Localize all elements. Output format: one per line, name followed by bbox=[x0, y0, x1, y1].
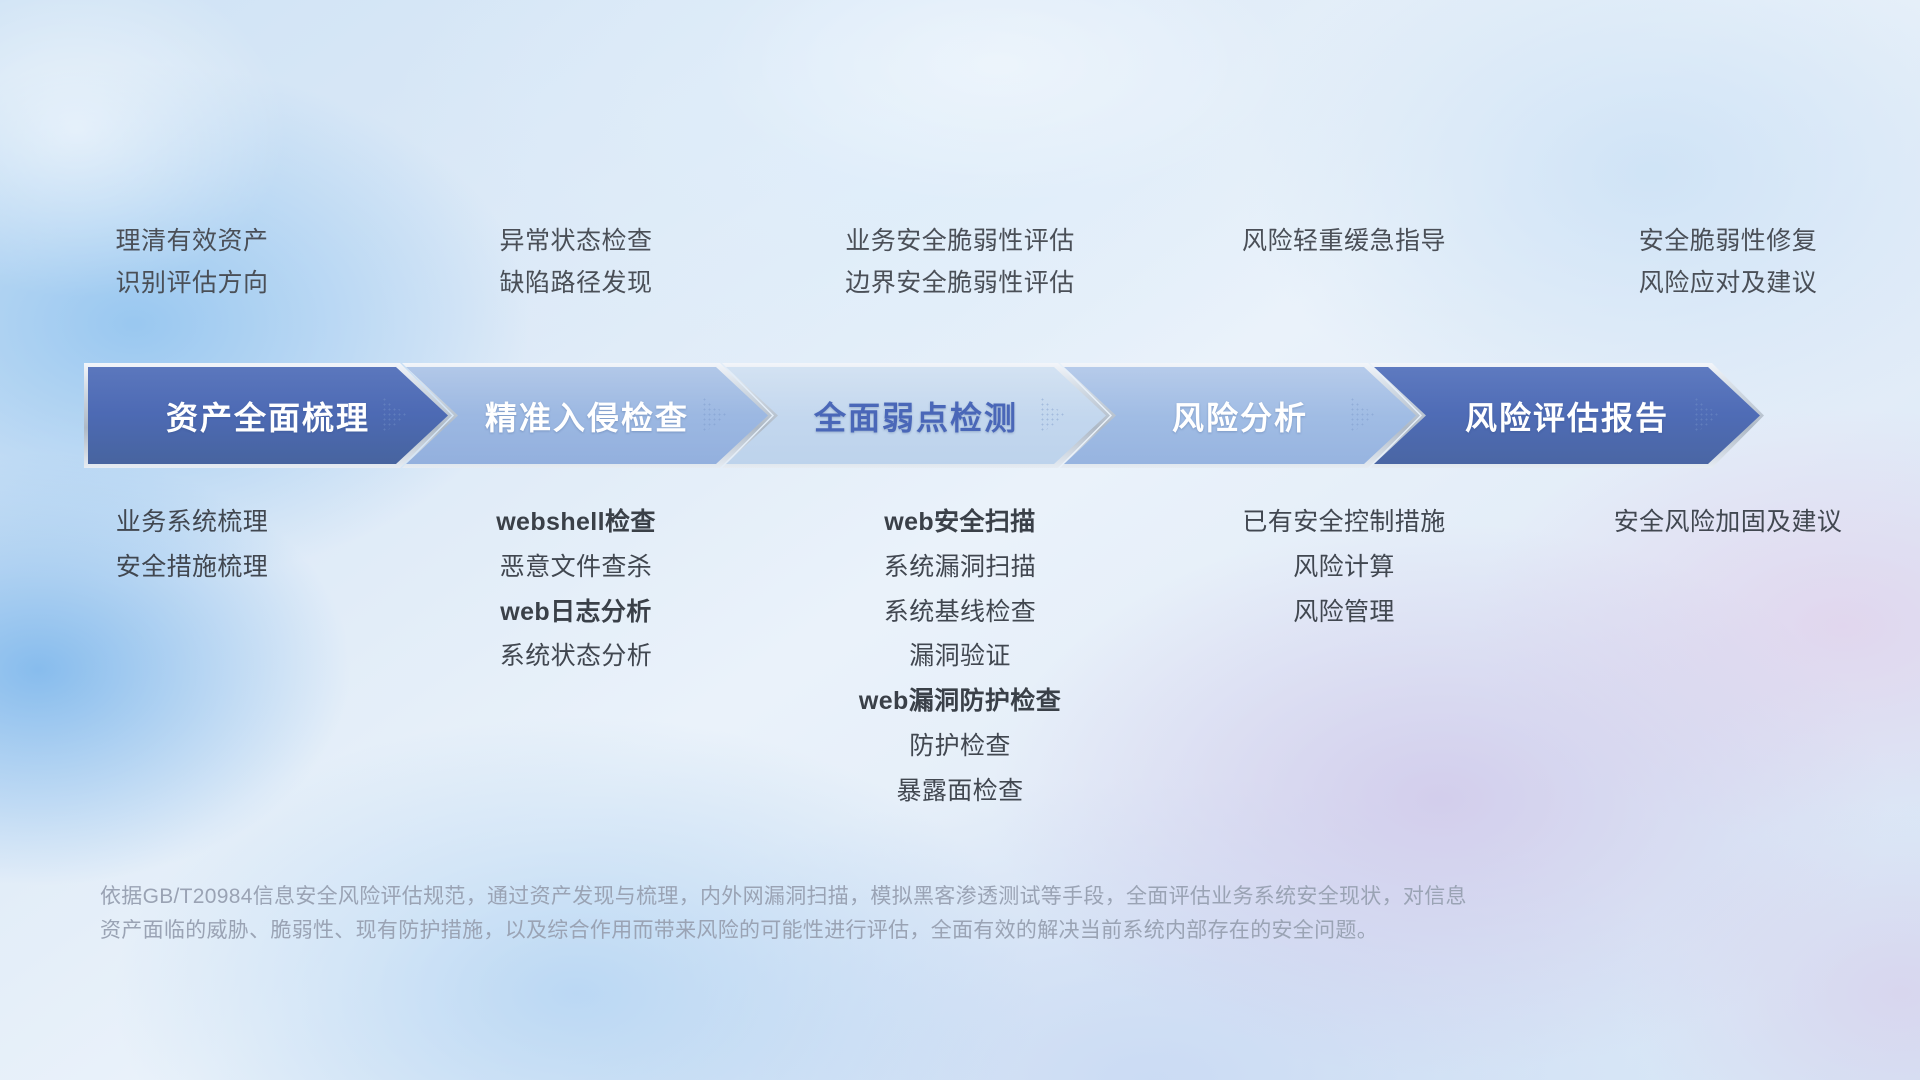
stage-items-3: web安全扫描 系统漏洞扫描 系统基线检查 漏洞验证 web漏洞防护检查 防护检… bbox=[768, 508, 1152, 805]
list-item: 风险管理 bbox=[1293, 598, 1395, 627]
chevron-label: 全面弱点检测 bbox=[814, 393, 1018, 439]
footer-description: 依据GB/T20984信息安全风险评估规范，通过资产发现与梳理，内外网漏洞扫描，… bbox=[100, 880, 1660, 948]
list-item: 系统状态分析 bbox=[500, 642, 652, 671]
list-item: web安全扫描 bbox=[884, 508, 1035, 537]
stage-items-2: webshell检查 恶意文件查杀 web日志分析 系统状态分析 bbox=[384, 508, 768, 671]
stage-items-5: 安全风险加固及建议 bbox=[1536, 508, 1920, 537]
list-item: 已有安全控制措施 bbox=[1242, 508, 1445, 537]
chevron-stage-5[interactable]: 风险评估报告 bbox=[1374, 367, 1760, 464]
stage-items-4: 已有安全控制措施 风险计算 风险管理 bbox=[1152, 508, 1536, 626]
stage-items-row: 业务系统梳理 安全措施梳理 webshell检查 恶意文件查杀 web日志分析 … bbox=[0, 508, 1920, 805]
chevron-stage-1[interactable]: 资产全面梳理 bbox=[88, 367, 448, 464]
list-item: 暴露面检查 bbox=[896, 777, 1023, 806]
list-item: 安全风险加固及建议 bbox=[1614, 508, 1843, 537]
list-item: 防护检查 bbox=[909, 732, 1011, 761]
chevron-label: 资产全面梳理 bbox=[166, 393, 370, 439]
top-caption-line: 识别评估方向 bbox=[115, 270, 268, 298]
top-caption-group-5: 安全脆弱性修复 风险应对及建议 bbox=[1536, 228, 1920, 338]
top-caption-group-4: 风险轻重缓急指导 bbox=[1152, 228, 1536, 338]
chevron-stage-2[interactable]: 精准入侵检查 bbox=[406, 367, 768, 464]
list-item: 系统基线检查 bbox=[884, 598, 1036, 627]
top-caption-line: 安全脆弱性修复 bbox=[1639, 228, 1818, 256]
top-caption-group-1: 理清有效资产 识别评估方向 bbox=[0, 228, 384, 338]
top-caption-line: 缺陷路径发现 bbox=[499, 270, 652, 298]
chevron-label: 风险分析 bbox=[1172, 393, 1308, 439]
top-caption-line: 理清有效资产 bbox=[115, 228, 268, 256]
list-item: 恶意文件查杀 bbox=[500, 553, 652, 582]
list-item: 安全措施梳理 bbox=[116, 553, 268, 582]
stage-items-1: 业务系统梳理 安全措施梳理 bbox=[0, 508, 384, 582]
list-item: web漏洞防护检查 bbox=[859, 687, 1061, 716]
top-caption-line: 边界安全脆弱性评估 bbox=[845, 270, 1075, 298]
top-caption-group-3: 业务安全脆弱性评估 边界安全脆弱性评估 bbox=[768, 228, 1152, 338]
footer-line-1: 依据GB/T20984信息安全风险评估规范，通过资产发现与梳理，内外网漏洞扫描，… bbox=[100, 880, 1660, 914]
process-chevron-banner: 资产全面梳理 精准入侵检查 全面弱点检测 风险分析 风险评估报告 bbox=[88, 367, 1843, 464]
footer-line-2: 资产面临的威胁、脆弱性、现有防护措施，以及综合作用而带来风险的可能性进行评估，全… bbox=[100, 914, 1660, 948]
chevron-label: 精准入侵检查 bbox=[485, 393, 689, 439]
list-item: web日志分析 bbox=[500, 598, 651, 627]
chevron-stage-4[interactable]: 风险分析 bbox=[1064, 367, 1416, 464]
chevron-label: 风险评估报告 bbox=[1465, 393, 1669, 439]
top-captions-row: 理清有效资产 识别评估方向 异常状态检查 缺陷路径发现 业务安全脆弱性评估 边界… bbox=[0, 228, 1920, 338]
list-item: 风险计算 bbox=[1293, 553, 1395, 582]
top-caption-group-2: 异常状态检查 缺陷路径发现 bbox=[384, 228, 768, 338]
top-caption-line: 风险应对及建议 bbox=[1639, 270, 1818, 298]
slide-page: 理清有效资产 识别评估方向 异常状态检查 缺陷路径发现 业务安全脆弱性评估 边界… bbox=[0, 0, 1920, 1080]
top-caption-line: 异常状态检查 bbox=[499, 228, 652, 256]
top-caption-line: 风险轻重缓急指导 bbox=[1242, 228, 1446, 256]
list-item: webshell检查 bbox=[496, 508, 656, 537]
chevron-stage-3[interactable]: 全面弱点检测 bbox=[726, 367, 1106, 464]
list-item: 漏洞验证 bbox=[909, 642, 1011, 671]
list-item: 业务系统梳理 bbox=[116, 508, 268, 537]
top-caption-line: 业务安全脆弱性评估 bbox=[845, 228, 1075, 256]
list-item: 系统漏洞扫描 bbox=[884, 553, 1036, 582]
